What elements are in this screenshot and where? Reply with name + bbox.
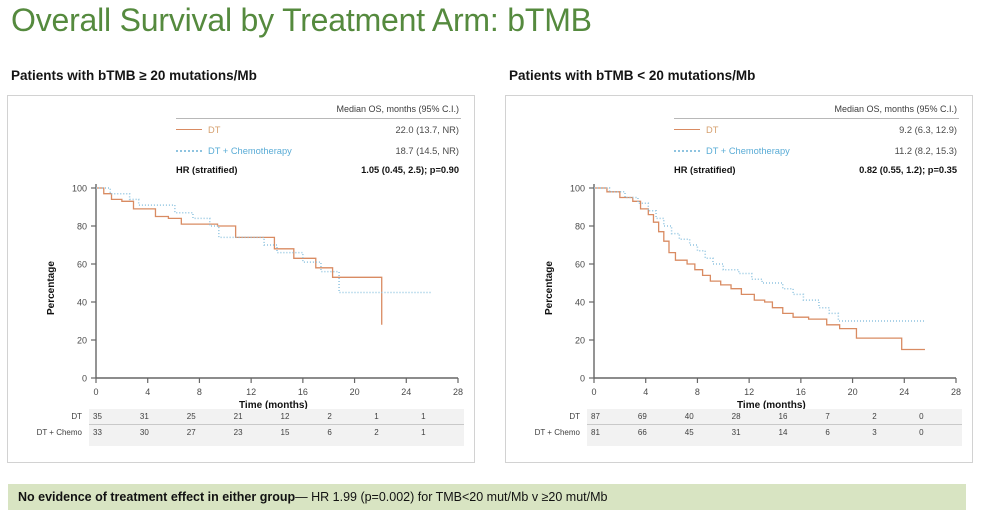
risk-cell: 7 — [821, 409, 868, 425]
risk-cell: 6 — [323, 425, 370, 441]
chart-panel-low-btmb: Median OS, months (95% C.I.) DT 9.2 (6.3… — [505, 95, 973, 463]
summary-banner: No evidence of treatment effect in eithe… — [8, 484, 966, 510]
svg-text:0: 0 — [591, 387, 596, 397]
banner-detail: — HR 1.99 (p=0.002) for TMB<20 mut/Mb v … — [295, 490, 607, 504]
svg-text:4: 4 — [145, 387, 150, 397]
y-axis-title-right: Percentage — [544, 261, 555, 315]
risk-row-label: DT — [518, 409, 587, 425]
risk-cell: 40 — [681, 409, 728, 425]
risk-cell: 66 — [634, 425, 681, 441]
risk-cell: 12 — [277, 409, 324, 425]
risk-cell: 2 — [323, 409, 370, 425]
svg-text:40: 40 — [575, 298, 585, 308]
risk-cell: 15 — [277, 425, 324, 441]
risk-cell: 69 — [634, 409, 681, 425]
svg-text:40: 40 — [77, 298, 87, 308]
risk-cell: 31 — [728, 425, 775, 441]
risk-cell: 45 — [681, 425, 728, 441]
risk-cell: 33 — [89, 425, 136, 441]
panel-heading-right: Patients with bTMB < 20 mutations/Mb — [509, 68, 755, 83]
svg-text:24: 24 — [401, 387, 411, 397]
km-plot-high-btmb: 0204060801000481216202428 — [8, 96, 476, 416]
risk-cell: 35 — [89, 409, 136, 425]
svg-text:100: 100 — [72, 184, 87, 194]
chart-panel-high-btmb: Median OS, months (95% C.I.) DT 22.0 (13… — [7, 95, 475, 463]
risk-cell: 1 — [417, 409, 464, 425]
risk-cell: 30 — [136, 425, 183, 441]
panel-heading-left: Patients with bTMB ≥ 20 mutations/Mb — [11, 68, 257, 83]
km-plot-low-btmb: 0204060801000481216202428 — [506, 96, 974, 416]
svg-text:0: 0 — [93, 387, 98, 397]
risk-cell: 81 — [587, 425, 634, 441]
risk-cell: 87 — [587, 409, 634, 425]
svg-text:16: 16 — [796, 387, 806, 397]
svg-text:20: 20 — [350, 387, 360, 397]
table-row: DT + Chemo8166453114630 — [518, 425, 962, 441]
table-row: DT8769402816720 — [518, 409, 962, 425]
risk-cell: 31 — [136, 409, 183, 425]
svg-text:20: 20 — [848, 387, 858, 397]
svg-text:60: 60 — [77, 260, 87, 270]
page-title: Overall Survival by Treatment Arm: bTMB — [11, 2, 592, 39]
svg-text:12: 12 — [246, 387, 256, 397]
svg-text:0: 0 — [82, 374, 87, 384]
risk-cell: 27 — [183, 425, 230, 441]
svg-text:16: 16 — [298, 387, 308, 397]
svg-text:4: 4 — [643, 387, 648, 397]
svg-text:20: 20 — [77, 336, 87, 346]
table-row: DT + Chemo3330272315621 — [20, 425, 464, 441]
svg-text:80: 80 — [77, 222, 87, 232]
risk-table-left: DT3531252112211DT + Chemo3330272315621 — [20, 409, 464, 446]
svg-text:8: 8 — [695, 387, 700, 397]
risk-row-label: DT — [20, 409, 89, 425]
risk-table-spacer — [20, 440, 464, 446]
risk-cell: 2 — [868, 409, 915, 425]
risk-cell: 0 — [915, 409, 962, 425]
svg-text:28: 28 — [951, 387, 961, 397]
svg-text:28: 28 — [453, 387, 463, 397]
svg-text:60: 60 — [575, 260, 585, 270]
risk-cell: 25 — [183, 409, 230, 425]
risk-cell: 0 — [915, 425, 962, 441]
svg-text:80: 80 — [575, 222, 585, 232]
svg-text:20: 20 — [575, 336, 585, 346]
risk-cell: 28 — [728, 409, 775, 425]
risk-cell: 16 — [775, 409, 822, 425]
banner-conclusion: No evidence of treatment effect in eithe… — [18, 490, 295, 504]
risk-cell: 1 — [370, 409, 417, 425]
svg-text:0: 0 — [580, 374, 585, 384]
risk-cell: 23 — [230, 425, 277, 441]
risk-cell: 2 — [370, 425, 417, 441]
risk-table-right: DT8769402816720DT + Chemo8166453114630 — [518, 409, 962, 446]
risk-cell: 14 — [775, 425, 822, 441]
risk-row-label: DT + Chemo — [518, 425, 587, 441]
risk-cell: 3 — [868, 425, 915, 441]
risk-cell: 1 — [417, 425, 464, 441]
risk-row-label: DT + Chemo — [20, 425, 89, 441]
risk-cell: 6 — [821, 425, 868, 441]
svg-text:12: 12 — [744, 387, 754, 397]
svg-text:100: 100 — [570, 184, 585, 194]
risk-cell: 21 — [230, 409, 277, 425]
risk-table-spacer — [518, 440, 962, 446]
y-axis-title-left: Percentage — [46, 261, 57, 315]
svg-text:24: 24 — [899, 387, 909, 397]
table-row: DT3531252112211 — [20, 409, 464, 425]
svg-text:8: 8 — [197, 387, 202, 397]
